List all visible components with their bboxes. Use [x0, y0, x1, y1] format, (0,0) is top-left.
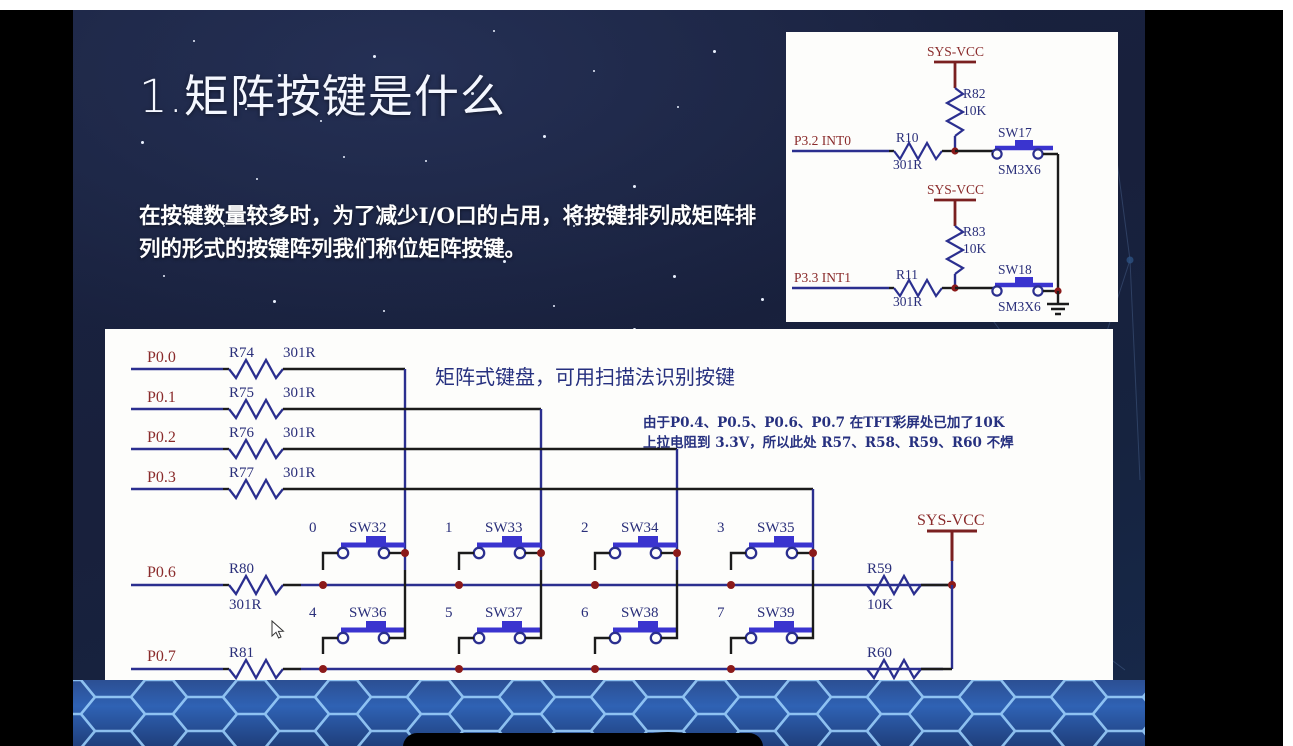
- port-p06: P0.6: [147, 564, 176, 581]
- port-p02: P0.2: [147, 429, 176, 446]
- switch-group-3: 3 SW35: [717, 520, 817, 589]
- r81-ref: R81: [229, 645, 254, 661]
- top-r11-val: 301R: [893, 294, 922, 309]
- top-r10-ref: R10: [896, 130, 919, 145]
- r75-val: 301R: [283, 385, 316, 401]
- port-p00: P0.0: [147, 349, 176, 366]
- presentation-slide: 1.矩阵按键是什么 在按键数量较多时，为了减少I/O口的占用，将按键排列成矩阵排…: [73, 10, 1145, 746]
- letterbox-right: [1145, 10, 1283, 746]
- letterbox-top: [0, 0, 1293, 10]
- hexagon-footer-band: [73, 680, 1145, 746]
- top-r82-val: 10K: [963, 103, 987, 118]
- key-index-0: 0: [309, 520, 317, 536]
- key-index-2: 2: [581, 520, 589, 536]
- key-index-3: 3: [717, 520, 725, 536]
- top-port-1: P3.2 INT0: [794, 133, 851, 148]
- top-r82-ref: R82: [963, 86, 986, 101]
- mouse-cursor: [271, 620, 285, 640]
- top-sw17-ref: SW17: [998, 125, 1032, 140]
- top-sw17-pin-left: [992, 149, 1001, 158]
- port-p03: P0.3: [147, 469, 176, 486]
- port-p01: P0.1: [147, 389, 176, 406]
- switch-group-2: 2 SW34: [581, 520, 681, 589]
- r80-val: 301R: [229, 597, 262, 613]
- slide-body-text: 在按键数量较多时，为了减少I/O口的占用，将按键排列成矩阵排列的形式的按键阵列我…: [139, 200, 759, 266]
- key-index-6: 6: [581, 605, 589, 621]
- top-circuit-svg: .wb{stroke:#2b2f8f;stroke-width:2.4;fill…: [786, 32, 1118, 322]
- r75-ref: R75: [229, 385, 254, 401]
- key-ref-sw32: SW32: [349, 520, 387, 536]
- top-rail-label-2: SYS-VCC: [927, 182, 984, 197]
- top-rail-label-1: SYS-VCC: [927, 44, 984, 59]
- footer-obscured-text: [403, 733, 763, 746]
- top-port-2: P3.3 INT1: [794, 270, 851, 285]
- main-note-line2: 上拉电阻到 3.3V，所以此处 R57、R58、R59、R60 不焊: [643, 434, 1014, 451]
- top-sw17-pin-right: [1033, 149, 1042, 158]
- key-index-5: 5: [445, 605, 453, 621]
- top-r83-val: 10K: [963, 241, 987, 256]
- key-index-7: 7: [717, 605, 725, 621]
- key-index-4: 4: [309, 605, 317, 621]
- r77-val: 301R: [283, 465, 316, 481]
- port-p07: P0.7: [147, 648, 176, 665]
- letterbox-far-right: [1283, 0, 1293, 746]
- top-sw18-pin-left: [992, 286, 1001, 295]
- r60-ref: R60: [867, 645, 892, 661]
- r59-val: 10K: [867, 597, 893, 613]
- main-note-line1: 由于P0.4、P0.5、P0.6、P0.7 在TFT彩屏处已加了10K: [643, 414, 1006, 431]
- top-sw18-pkg: SM3X6: [998, 299, 1041, 314]
- switch-group-1: 1 SW33: [445, 520, 545, 589]
- top-r11-ref: R11: [896, 267, 918, 282]
- key-ref-sw33: SW33: [485, 520, 523, 536]
- top-sw18-ref: SW18: [998, 262, 1032, 277]
- letterbox-left: [0, 10, 73, 746]
- main-rail-label: SYS-VCC: [917, 512, 985, 529]
- switch-group-0: 0 SW32: [309, 520, 409, 589]
- r76-val: 301R: [283, 425, 316, 441]
- r74-ref: R74: [229, 345, 255, 361]
- r77-ref: R77: [229, 465, 255, 481]
- r59-ref: R59: [867, 561, 892, 577]
- key-index-1: 1: [445, 520, 453, 536]
- screen: 1.矩阵按键是什么 在按键数量较多时，为了减少I/O口的占用，将按键排列成矩阵排…: [0, 0, 1293, 746]
- main-circuit-svg: .mwb{stroke:#2b2f8f;stroke-width:2.4;fil…: [105, 329, 1113, 689]
- key-ref-sw39: SW39: [757, 605, 795, 621]
- key-ref-sw37: SW37: [485, 605, 523, 621]
- footer-obscured-text-2: [633, 732, 703, 746]
- r80-ref: R80: [229, 561, 254, 577]
- key-ref-sw35: SW35: [757, 520, 795, 536]
- key-ref-sw36: SW36: [349, 605, 387, 621]
- top-sw18-pin-right: [1033, 286, 1042, 295]
- top-circuit-panel: .wb{stroke:#2b2f8f;stroke-width:2.4;fill…: [786, 32, 1118, 322]
- top-r83-ref: R83: [963, 224, 986, 239]
- r74-val: 301R: [283, 345, 316, 361]
- main-circuit-panel: .mwb{stroke:#2b2f8f;stroke-width:2.4;fil…: [105, 329, 1113, 689]
- top-sw17-pkg: SM3X6: [998, 162, 1041, 177]
- main-heading: 矩阵式键盘，可用扫描法识别按键: [435, 365, 735, 389]
- key-ref-sw38: SW38: [621, 605, 659, 621]
- slide-title: 1.矩阵按键是什么: [139, 60, 506, 125]
- ground-icon: [1047, 304, 1069, 314]
- r76-ref: R76: [229, 425, 255, 441]
- key-ref-sw34: SW34: [621, 520, 659, 536]
- top-r10-val: 301R: [893, 157, 922, 172]
